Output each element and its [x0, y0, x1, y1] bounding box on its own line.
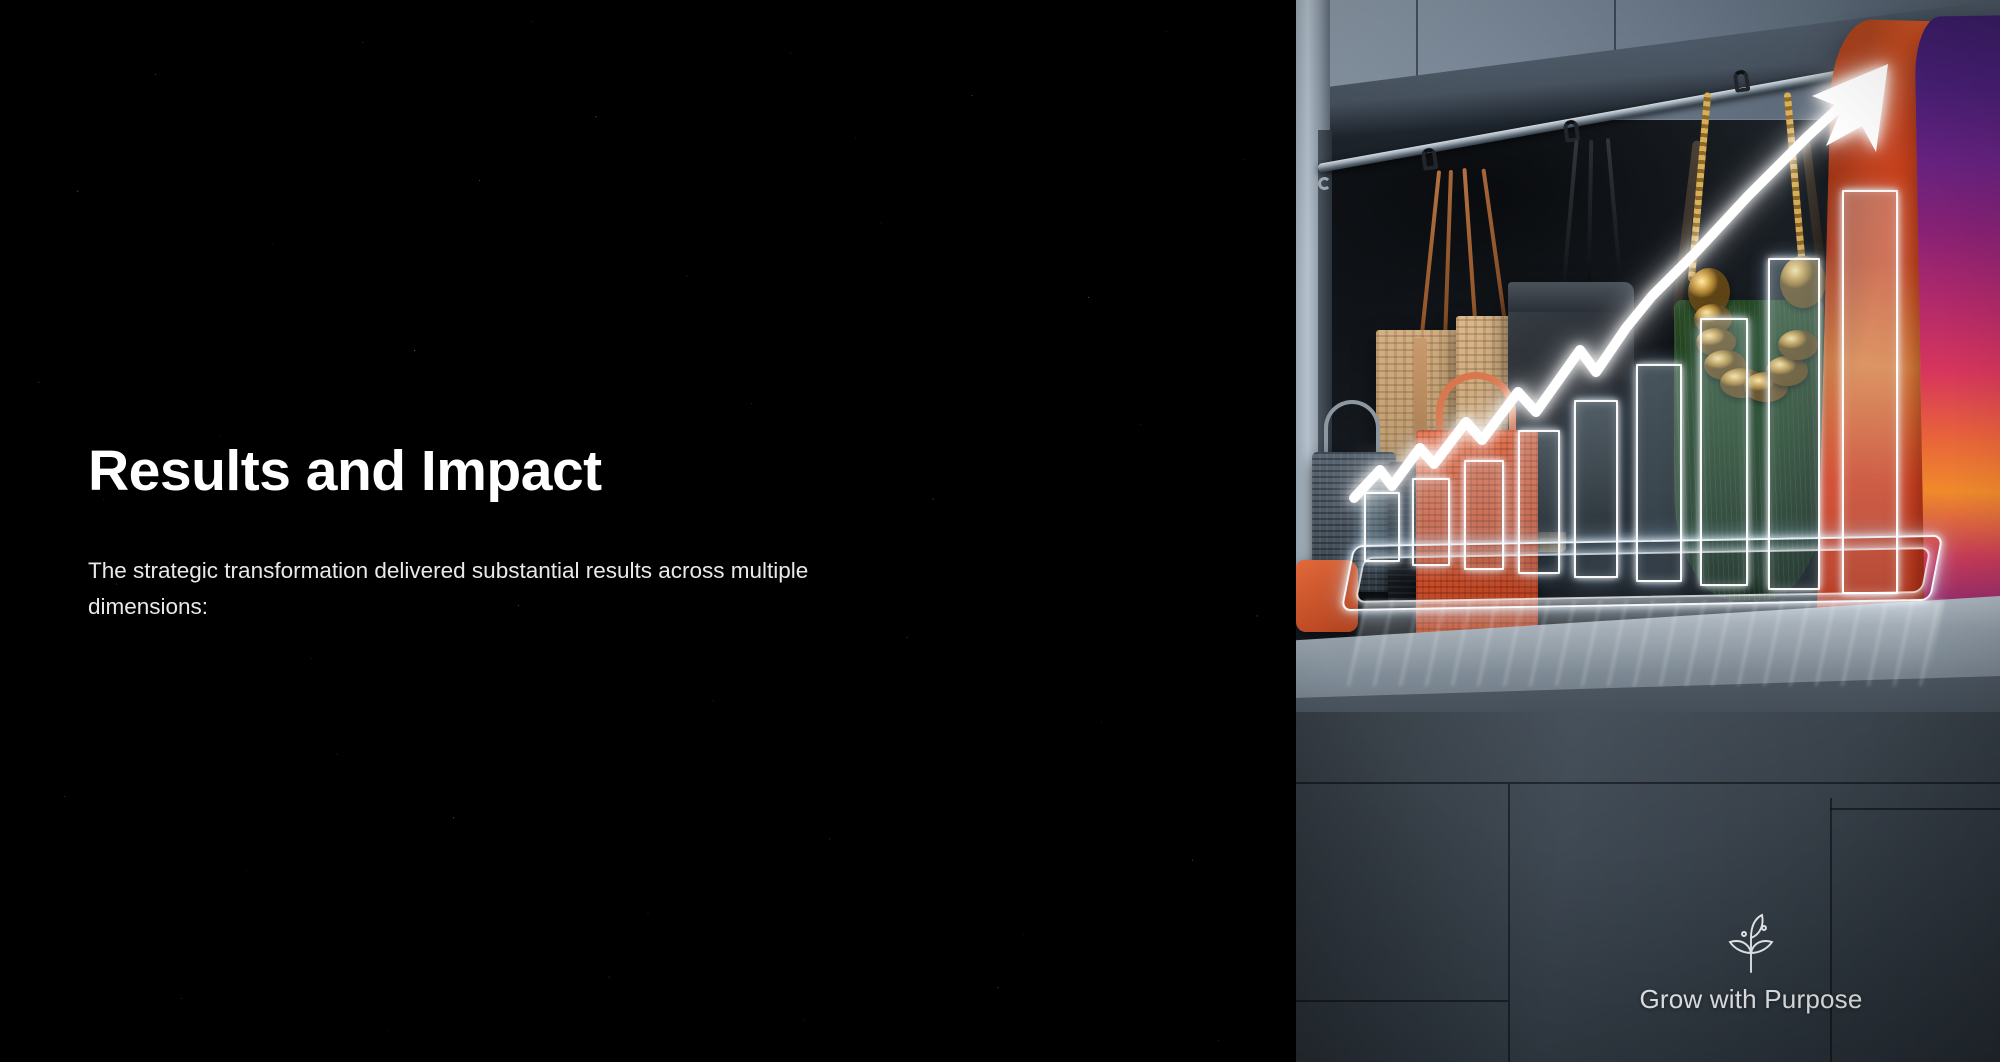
orange-crochet-tote	[1416, 430, 1538, 660]
necklace-bead	[1766, 356, 1808, 386]
slide-root: Results and Impact The strategic transfo…	[0, 0, 2000, 1062]
brand-logo: Grow with Purpose	[1626, 912, 1876, 1015]
necklace-bead	[1778, 330, 1818, 360]
sprout-leaf-icon	[1724, 912, 1778, 974]
multicolor-scarf	[1914, 15, 2000, 677]
slide-body-text: The strategic transformation delivered s…	[88, 553, 818, 626]
leather-tote-top	[1508, 282, 1634, 312]
text-block: Results and Impact The strategic transfo…	[88, 440, 868, 626]
brand-name: Grow with Purpose	[1639, 984, 1862, 1015]
page-title: Results and Impact	[88, 440, 868, 503]
necklace-bead	[1780, 256, 1826, 308]
left-content-panel: Results and Impact The strategic transfo…	[0, 0, 1296, 1062]
orange-pouch	[1296, 560, 1358, 632]
hero-photo-panel: Grow with Purpose	[1296, 0, 2000, 1062]
rail-end-cap	[1318, 177, 1331, 190]
